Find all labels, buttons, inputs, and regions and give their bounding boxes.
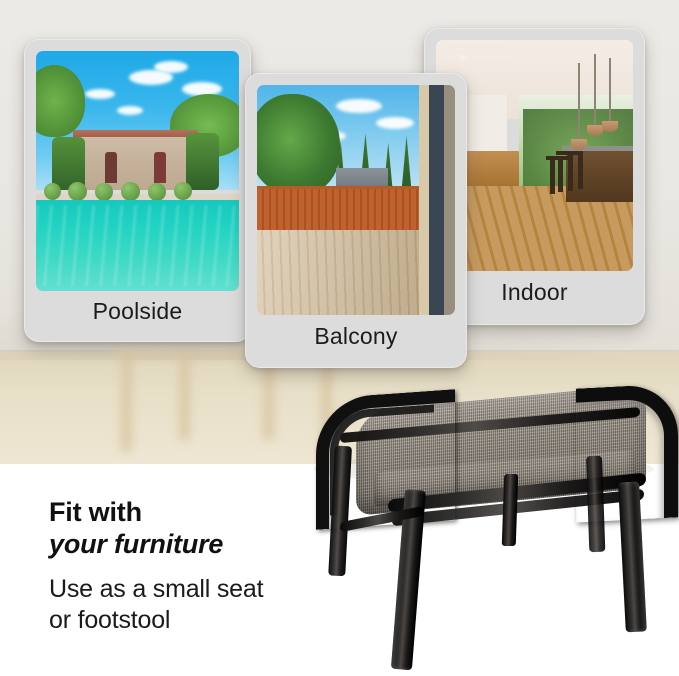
poolside-photo xyxy=(36,51,239,291)
headline-line-1: Fit with xyxy=(49,497,263,528)
leg-rear-right xyxy=(586,456,605,552)
scenario-card-poolside[interactable]: Poolside xyxy=(24,39,251,342)
poolside-card-label: Poolside xyxy=(25,298,250,325)
product-footstool xyxy=(300,386,679,676)
balcony-card-label: Balcony xyxy=(246,323,466,350)
frame-center-stretcher xyxy=(502,474,519,546)
balcony-photo xyxy=(257,85,455,315)
copy-block: Fit with your furniture Use as a small s… xyxy=(49,497,263,636)
scenario-card-balcony[interactable]: Balcony xyxy=(245,73,467,368)
subhead-line-2: or footstool xyxy=(49,605,263,636)
marketing-image: Indoor xyxy=(0,0,679,676)
headline-line-2: your furniture xyxy=(49,528,263,560)
subhead-line-1: Use as a small seat xyxy=(49,574,263,605)
